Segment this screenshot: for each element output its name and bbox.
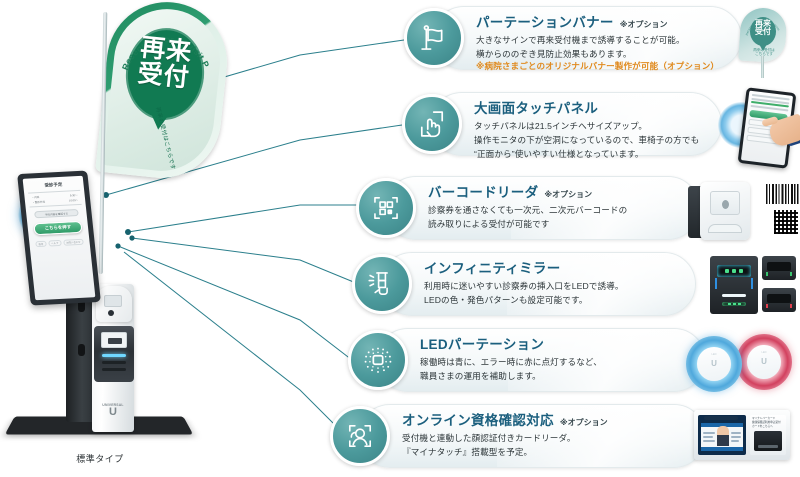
card-reader-camera-bar — [704, 416, 738, 420]
preview-line-5 — [731, 436, 741, 438]
card-reader-display — [698, 415, 746, 455]
mini-sign-jp: 再来 受付 — [750, 20, 776, 37]
feature-text-5: LEDパーテーション 稼働時は青に、エラー時に赤に点灯するなど、 職員さまの運用… — [420, 337, 670, 382]
mini-sign-caption: 再来の受付は こちらです — [746, 48, 782, 57]
feature-text-1: パーテーションバナー ※オプション 大きなサインで再来受付機まで誘導することが可… — [476, 15, 726, 72]
mirror-red-unit — [762, 288, 796, 312]
feature-desc-1-line1: 大きなサインで再来受付機まで誘導することが可能。 — [476, 34, 726, 46]
product-photo-area: Reception for Revisit Patients 再来 受付 再来の… — [0, 0, 350, 477]
screen-foot-center[interactable]: ヘルプ — [48, 240, 62, 247]
card-reader-card-tray[interactable] — [754, 431, 782, 451]
mirror-slot-red — [767, 294, 791, 303]
kiosk-column-vent-2 — [78, 344, 85, 356]
led-disc-blue-small: LED — [686, 353, 742, 356]
led-disc-red: LED U — [736, 334, 792, 390]
feature-desc-3-line2: 読み取りによる受付が可能です — [428, 218, 678, 230]
feature-row-barcode-reader[interactable]: バーコードリーダ ※オプション 診察券を通さなくても一次元、二次元バーコードの … — [356, 176, 800, 248]
feature-title-5: LEDパーテーション — [420, 337, 670, 354]
option-tag-6: ※オプション — [560, 418, 608, 428]
feature-title-3: バーコードリーダ ※オプション — [428, 185, 678, 202]
option-tag-3: ※オプション — [544, 190, 592, 200]
kiosk-head-module — [96, 286, 132, 322]
feature-title-4: インフィニティミラー — [424, 261, 674, 278]
feature-title-6: オンライン資格確認対応 ※オプション — [402, 413, 652, 430]
thumb-mini-sign: Reception for Revisit Patients 再来 受付 再来の… — [740, 8, 794, 92]
card-insert-icon — [352, 254, 412, 314]
preview-bottom-bar — [701, 447, 743, 451]
screen-foot-right[interactable]: お問い合わせ — [63, 239, 84, 246]
preview-line-2 — [703, 436, 713, 438]
card-reader-body: マイナンバーカード 健康保険証利用申込受付 カードをこちらへ — [694, 410, 790, 460]
preview-line-6 — [731, 440, 739, 442]
feature-desc-2-line1: タッチパネルは21.5インチへサイズアップ。 — [474, 120, 724, 132]
card-reader-id-preview — [701, 423, 743, 451]
feature-desc-6-line1: 受付機と連動した顔認証付きカードリーダ。 — [402, 432, 652, 444]
preview-line-1 — [703, 432, 715, 434]
thumb-tablet — [726, 88, 800, 172]
barcode-1d-icon — [766, 184, 800, 204]
screen-footer: 設定 ヘルプ お問い合わせ — [33, 239, 86, 248]
feature-desc-6-line2: 『マイナタッチ』搭載型を予定。 — [402, 446, 652, 458]
screen-primary-button[interactable]: こちらを押す — [33, 221, 82, 235]
screen-row2-right: 10:00～ — [69, 198, 79, 202]
barcode-reader-window — [710, 191, 740, 215]
kiosk-logo: UNIVERSAL U — [92, 403, 134, 418]
kiosk-led-guide — [102, 354, 126, 357]
feature-note-1: ※病院さまごとのオリジナルバナー製作が可能（オプション） — [476, 60, 726, 72]
qr-code-icon — [356, 178, 416, 238]
mirror-slot-green — [767, 262, 791, 271]
led-disc-red-logo: U — [736, 357, 792, 366]
screen-row2-left: ・整形外科 — [32, 200, 45, 205]
feature-desc-2-line3: “正面から”使いやすい仕様となっています。 — [474, 148, 724, 160]
feature-desc-4-line2: LEDの色・発色パターンも設定可能です。 — [424, 294, 674, 306]
led-disc-blue: LED U — [686, 336, 742, 392]
led-disc-red-small: LED — [736, 351, 792, 354]
thumb-codes — [760, 182, 800, 236]
feature-desc-4-line1: 利用時に迷いやすい診察券の挿入口をLEDで誘導。 — [424, 280, 674, 292]
thumb-infinity-mirror — [710, 256, 796, 316]
led-dots-icon — [348, 330, 408, 390]
kiosk-unit: UNIVERSAL U U 受診予定 — [8, 168, 208, 468]
preview-line-4 — [731, 432, 741, 434]
feature-text-2: 大画面タッチパネル タッチパネルは21.5インチへサイズアップ。 操作モニタの下… — [474, 101, 724, 160]
thumb-barcode-reader — [688, 182, 754, 242]
feature-desc-5-line1: 稼働時は青に、エラー時に赤に点灯するなど、 — [420, 356, 670, 368]
panel-text-line3: カードをこちらへ — [752, 425, 784, 429]
led-disc-blue-logo: U — [686, 359, 742, 368]
preview-line-3 — [703, 440, 715, 442]
screen-title: 受診予定 — [27, 181, 80, 190]
mirror-led-v-blue — [715, 278, 753, 289]
feature-title-2: 大画面タッチパネル — [474, 101, 724, 118]
mirror-led-v-red — [766, 304, 792, 308]
mirror-green-unit — [762, 256, 796, 280]
kiosk-screen-content: 受診予定 ・内科 9:30～ ・整形外科 10:00～ 予約内容を確認する こち… — [23, 176, 96, 300]
touch-gesture-icon — [402, 94, 462, 154]
feature-row-partition-banner[interactable]: パーテーションバナー ※オプション 大きなサインで再来受付機まで誘導することが可… — [404, 6, 800, 82]
thumb-card-reader: マイナンバーカード 健康保険証利用申込受付 カードをこちらへ — [694, 410, 790, 464]
thumb-led-discs: LED U LED U — [686, 334, 796, 394]
kiosk-camera — [104, 295, 122, 307]
feature-desc-3-line1: 診察券を通さなくても一次元、二次元バーコードの — [428, 204, 678, 216]
kiosk-card-reader — [94, 326, 134, 382]
feature-title-1: パーテーションバナー ※オプション — [476, 15, 726, 32]
product-feature-diagram: Reception for Revisit Patients 再来 受付 再来の… — [0, 0, 800, 477]
barcode-reader-body — [700, 182, 750, 240]
mirror-slot-blue — [717, 265, 751, 277]
feature-row-infinity-mirror[interactable]: インフィニティミラー 利用時に迷いやすい診察券の挿入口をLEDで誘導。 LEDの… — [352, 252, 800, 324]
barcode-2d-qr-icon — [774, 210, 798, 234]
feature-row-online-eligibility[interactable]: オンライン資格確認対応 ※オプション 受付機と連動した顔認証付きカードリーダ。 … — [330, 404, 800, 474]
banner-jp-text: 再来 受付 — [128, 34, 203, 92]
kiosk-sensor-dot — [108, 310, 114, 316]
banner-sign: Reception for Revisit Patients 再来 受付 再来の… — [104, 2, 224, 178]
barcode-reader-slot — [708, 224, 742, 233]
screen-row1-right: 9:30～ — [70, 193, 78, 197]
feature-desc-2-line2: 操作モニタの下が空洞になっているので、車椅子の方でも — [474, 134, 724, 146]
mirror-green-bar — [722, 302, 746, 306]
mirror-blue-unit — [710, 256, 758, 314]
feature-row-touch-panel[interactable]: 大画面タッチパネル タッチパネルは21.5インチへサイズアップ。 操作モニタの下… — [402, 92, 800, 168]
kiosk-card-slot[interactable] — [101, 332, 127, 348]
preview-face-photo — [717, 426, 729, 446]
kiosk-tray-1 — [102, 361, 126, 364]
feature-text-3: バーコードリーダ ※オプション 診察券を通さなくても一次元、二次元バーコードの … — [428, 185, 678, 230]
mini-sign-pole — [761, 56, 764, 78]
feature-row-led-partition[interactable]: LEDパーテーション 稼働時は青に、エラー時に赤に点灯するなど、 職員さまの運用… — [348, 328, 800, 400]
screen-divider-2 — [30, 204, 82, 208]
feature-text-6: オンライン資格確認対応 ※オプション 受付機と連動した顔認証付きカードリーダ。 … — [402, 413, 652, 458]
screen-secondary-button[interactable]: 予約内容を確認する — [34, 209, 79, 218]
product-caption: 標準タイプ — [0, 452, 200, 465]
mirror-white-bar — [722, 294, 746, 297]
kiosk-touch-screen[interactable]: 受診予定 ・内科 9:30～ ・整形外科 10:00～ 予約内容を確認する こち… — [17, 171, 101, 306]
feature-desc-5-line2: 職員さまの運用を補助します。 — [420, 370, 670, 382]
kiosk-tray-2 — [102, 368, 126, 371]
screen-row1-left: ・内科 — [31, 195, 39, 199]
feature-text-4: インフィニティミラー 利用時に迷いやすい診察券の挿入口をLEDで誘導。 LEDの… — [424, 261, 674, 306]
option-tag-1: ※オプション — [620, 20, 668, 30]
face-recognition-icon — [330, 406, 390, 466]
mirror-led-v-green — [766, 272, 792, 276]
feature-desc-1-line2: 横からののぞき見防止効果もあります。 — [476, 48, 726, 60]
flag-icon — [404, 8, 464, 68]
kiosk-logo-mark: U — [109, 406, 117, 418]
screen-foot-left[interactable]: 設定 — [35, 241, 46, 248]
card-reader-panel-text: マイナンバーカード 健康保険証利用申込受付 カードをこちらへ — [752, 417, 784, 429]
card-reader-slot-panel: マイナンバーカード 健康保険証利用申込受付 カードをこちらへ — [750, 415, 786, 455]
